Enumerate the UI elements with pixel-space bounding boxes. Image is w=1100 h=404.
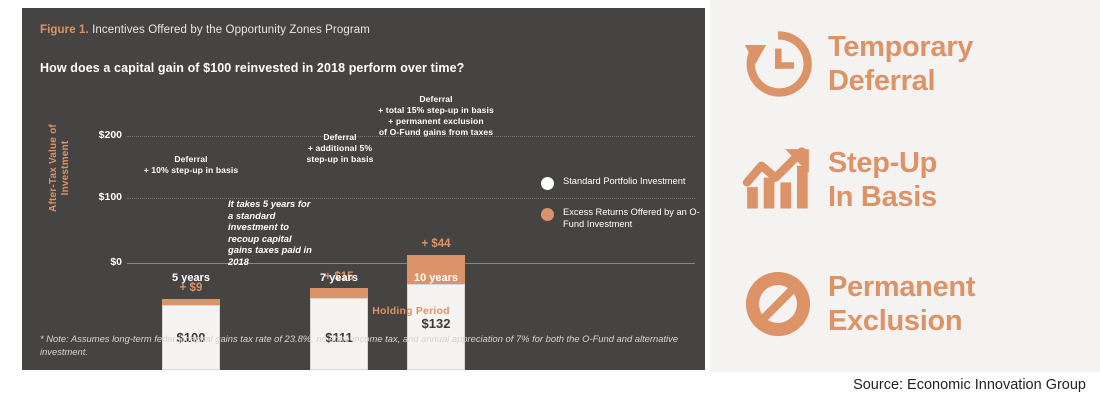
chart-plot-area: $200 $100 $0 After-Tax Value of Investme…: [22, 8, 705, 370]
x-tick-10-years: 10 years: [407, 272, 465, 284]
x-axis-label: Holding Period: [127, 305, 695, 317]
y-axis-label: After-Tax Value of Investment: [48, 108, 72, 228]
side-label-temporary-deferral: Temporary Deferral: [828, 30, 973, 98]
legend-label-standard: Standard Portfolio Investment: [563, 176, 706, 188]
y-tick-200: $200: [66, 129, 122, 141]
bar-delta-label: + $44: [393, 238, 479, 250]
legend-item-excess: Excess Returns Offered by an O-Fund Inve…: [541, 207, 706, 230]
incentives-side-panel: Temporary Deferral Step-Up In Basis: [710, 0, 1100, 372]
prohibition-icon: [728, 266, 828, 342]
side-item-permanent-exclusion: Permanent Exclusion: [728, 246, 1088, 362]
y-tick-0: $0: [66, 256, 122, 268]
source-caption: Source: Economic Innovation Group: [710, 377, 1090, 393]
legend-item-standard: Standard Portfolio Investment: [541, 176, 706, 198]
legend-dot-excess-icon: [541, 208, 554, 221]
figure-page: Figure 1. Incentives Offered by the Oppo…: [0, 0, 1100, 404]
chart-legend: Standard Portfolio Investment Excess Ret…: [541, 176, 706, 239]
bar-group-10-years: $132 + $44: [407, 115, 465, 370]
figure-footnote: * Note: Assumes long-term federal capita…: [40, 333, 680, 358]
bar-value-label: $132: [407, 316, 465, 331]
bar-caption-10-years: Deferral + total 15% step-up in basis + …: [370, 94, 502, 138]
x-tick-7-years: 7 years: [310, 272, 368, 284]
growth-chart-arrow-icon: [728, 142, 828, 218]
side-label-step-up-in-basis: Step-Up In Basis: [828, 146, 937, 214]
x-tick-5-years: 5 years: [162, 272, 220, 284]
legend-label-excess: Excess Returns Offered by an O-Fund Inve…: [563, 207, 706, 230]
clock-rewind-icon: [728, 26, 828, 102]
side-item-step-up-in-basis: Step-Up In Basis: [728, 122, 1088, 238]
bar-caption-5-years: Deferral + 10% step-up in basis: [133, 154, 249, 176]
figure-panel: Figure 1. Incentives Offered by the Oppo…: [22, 8, 705, 370]
legend-dot-standard-icon: [541, 177, 554, 190]
chart-callout-note: It takes 5 years for a standard investme…: [228, 198, 314, 268]
bar-segment-excess: [310, 288, 368, 298]
side-item-temporary-deferral: Temporary Deferral: [728, 6, 1088, 122]
y-tick-100: $100: [66, 191, 122, 203]
side-label-permanent-exclusion: Permanent Exclusion: [828, 270, 975, 338]
